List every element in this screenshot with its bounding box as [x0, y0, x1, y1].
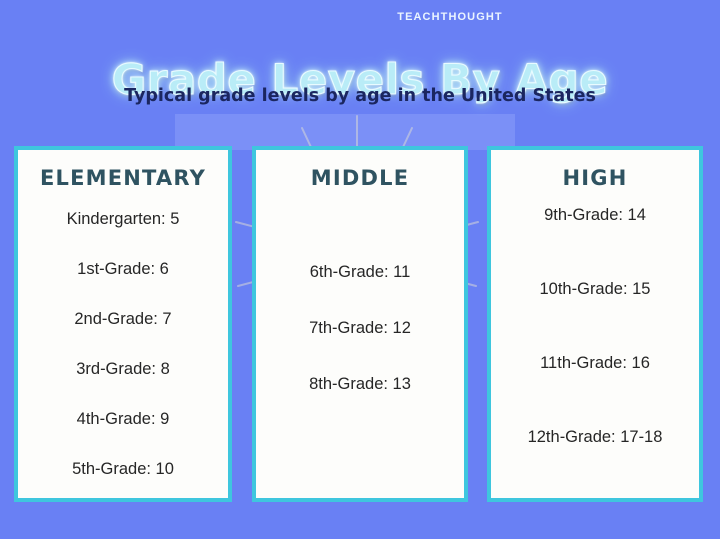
infographic-canvas: TeachThought TEACHTHOUGHT Grade Levels B… [0, 0, 720, 539]
grade-level-cards: ELEMENTARY Kindergarten: 5 1st-Grade: 6 … [0, 146, 720, 502]
card-high: HIGH 9th-Grade: 14 10th-Grade: 15 11th-G… [487, 146, 703, 502]
grade-list-elementary: Kindergarten: 5 1st-Grade: 6 2nd-Grade: … [18, 204, 228, 504]
card-title-middle: MIDDLE [256, 166, 464, 190]
card-title-high: HIGH [491, 166, 699, 190]
card-middle: MIDDLE 6th-Grade: 11 7th-Grade: 12 8th-G… [252, 146, 468, 502]
grade-row: 1st-Grade: 6 [18, 254, 228, 304]
grade-row: 7th-Grade: 12 [256, 310, 464, 366]
grade-row: 6th-Grade: 11 [256, 254, 464, 310]
grade-row: 9th-Grade: 14 [491, 194, 699, 268]
grade-row: 2nd-Grade: 7 [18, 304, 228, 354]
grade-row: 10th-Grade: 15 [491, 268, 699, 342]
brand-logo: TEACHTHOUGHT [0, 11, 720, 23]
background-accent-panel [175, 114, 515, 150]
grade-row: 3rd-Grade: 8 [18, 354, 228, 404]
grade-list-middle: 6th-Grade: 11 7th-Grade: 12 8th-Grade: 1… [256, 254, 464, 422]
page-subtitle: Typical grade levels by age in the Unite… [0, 86, 720, 106]
grade-row: 8th-Grade: 13 [256, 366, 464, 422]
grade-row: 11th-Grade: 16 [491, 342, 699, 416]
card-title-elementary: ELEMENTARY [18, 166, 228, 190]
grade-row: 5th-Grade: 10 [18, 454, 228, 504]
grade-row: Kindergarten: 5 [18, 204, 228, 254]
grade-row: 4th-Grade: 9 [18, 404, 228, 454]
grade-list-high: 9th-Grade: 14 10th-Grade: 15 11th-Grade:… [491, 194, 699, 490]
grade-row: 12th-Grade: 17-18 [491, 416, 699, 490]
card-elementary: ELEMENTARY Kindergarten: 5 1st-Grade: 6 … [14, 146, 232, 502]
